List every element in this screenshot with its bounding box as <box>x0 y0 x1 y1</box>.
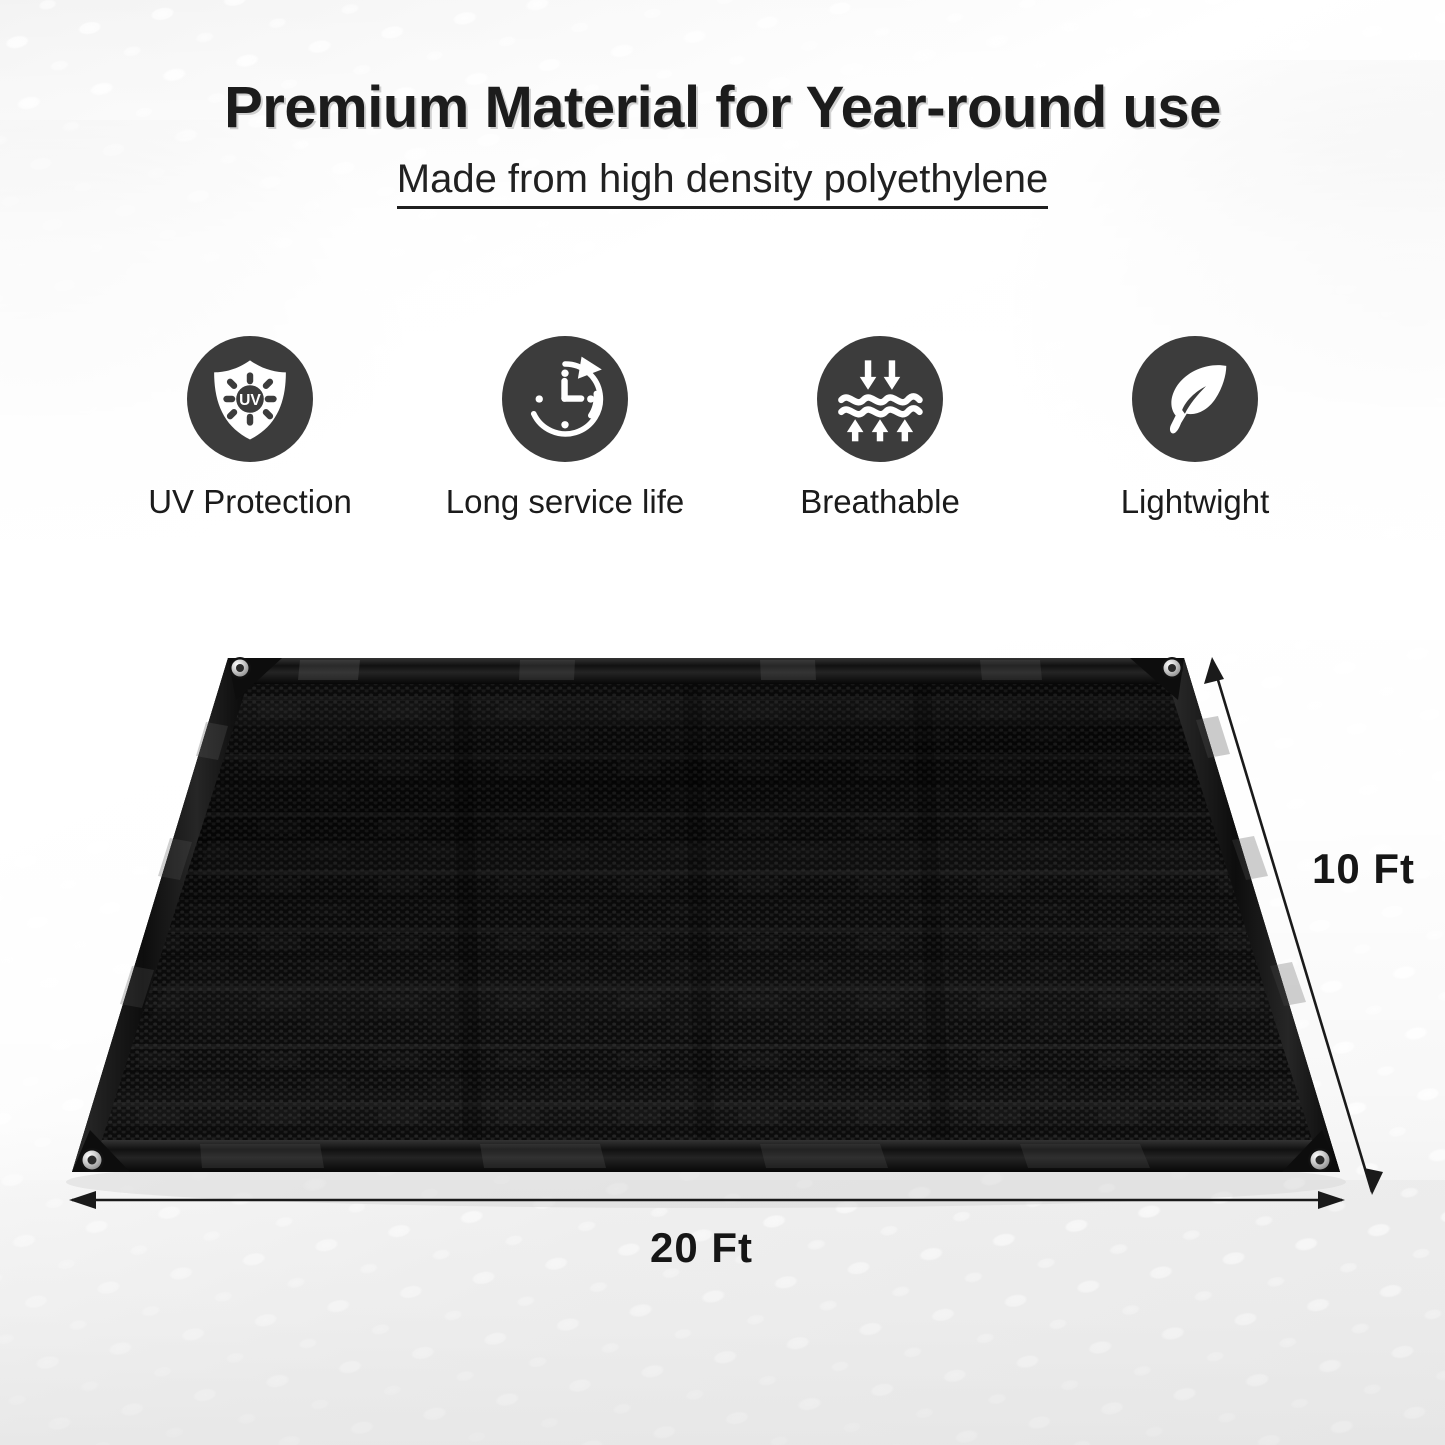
tarp-grommets <box>72 657 1340 1172</box>
dimension-width-label: 20 Ft <box>650 1224 753 1272</box>
feature-label-lightweight: Lightwight <box>1121 484 1270 520</box>
tarp-edge-tape-left <box>72 658 250 1172</box>
feature-lightweight: Lightwight <box>1075 336 1315 520</box>
dimension-arrow-width <box>69 1191 1345 1209</box>
page-subtitle: Made from high density polyethylene <box>397 157 1048 209</box>
background-wash-middle <box>0 540 1445 1180</box>
feature-long-service-life: Long service life <box>445 336 685 520</box>
clock-refresh-icon <box>502 336 628 462</box>
feather-icon <box>1132 336 1258 462</box>
uv-icon-text: UV <box>239 392 261 409</box>
feature-label-breathable: Breathable <box>800 484 960 520</box>
feature-label-long-service-life: Long service life <box>446 484 684 520</box>
uv-shield-icon: UV <box>187 336 313 462</box>
feature-breathable: Breathable <box>760 336 1000 520</box>
dimension-arrow-height <box>1204 657 1383 1195</box>
dimension-height-label: 10 Ft <box>1312 845 1415 893</box>
tarp-edge-tape-top <box>228 658 1184 684</box>
feature-uv-protection: UV UV Protection <box>130 336 370 520</box>
background-shadow-bottom <box>0 1115 1445 1445</box>
tarp-edge-tape-bottom <box>72 1140 1340 1172</box>
headline-block: Premium Material for Year-round use Made… <box>0 78 1445 209</box>
airflow-waves-icon <box>817 336 943 462</box>
feature-label-uv-protection: UV Protection <box>148 484 352 520</box>
infographic-canvas: Premium Material for Year-round use Made… <box>0 0 1445 1445</box>
tarp-edge-tape-right <box>1166 658 1340 1172</box>
tarp-body <box>60 640 1360 1200</box>
feature-list: UV UV Protection Long service <box>130 336 1315 520</box>
page-title: Premium Material for Year-round use <box>0 78 1445 139</box>
